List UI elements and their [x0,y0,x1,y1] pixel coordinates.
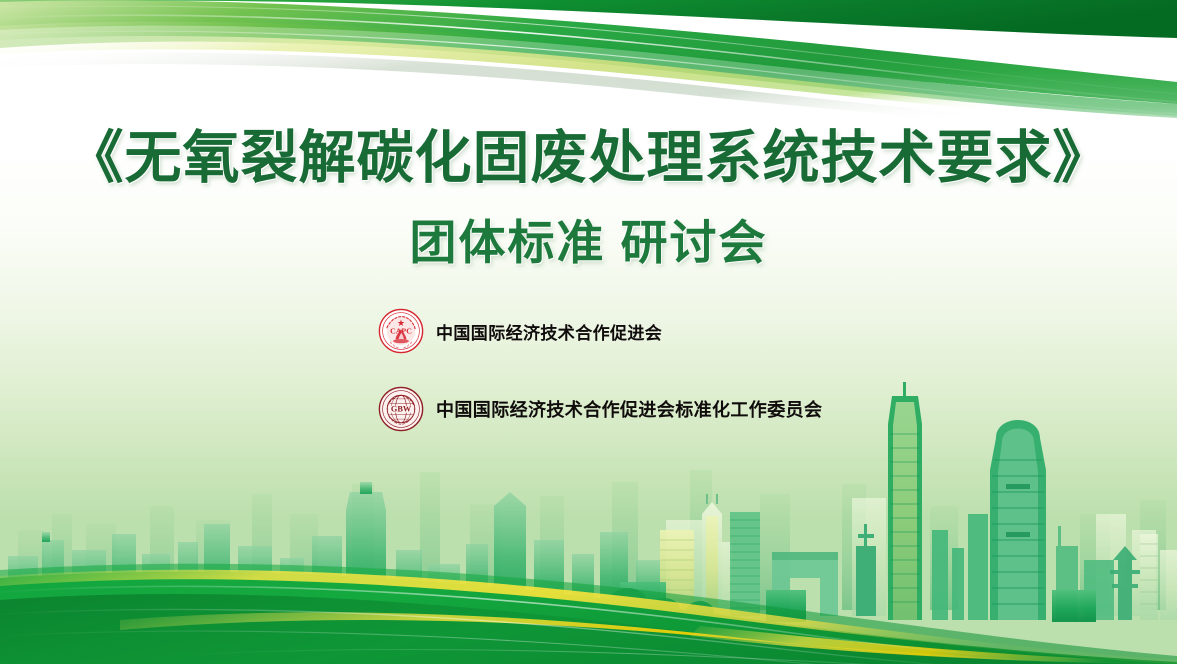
organization-list: CAPC 中国国际经济技术合作促进会 [378,306,822,434]
organization-row-gbw: GBW [378,384,822,434]
title-slide: 《无氧裂解碳化固废处理系统技术要求》 团体标准 研讨会 [0,0,1177,664]
page-title: 《无氧裂解碳化固废处理系统技术要求》 [0,112,1177,194]
organization-label-gbw: 中国国际经济技术合作促进会标准化工作委员会 [436,396,822,422]
organization-row-capc: CAPC 中国国际经济技术合作促进会 [378,306,822,356]
capc-seal-text: CAPC [390,327,412,336]
gbw-seal-text: GBW [391,405,412,414]
gbw-seal-icon: GBW [378,386,424,432]
capc-seal-icon: CAPC [378,308,424,354]
organization-label-capc: 中国国际经济技术合作促进会 [436,319,662,344]
page-subtitle: 团体标准 研讨会 [0,204,1177,273]
